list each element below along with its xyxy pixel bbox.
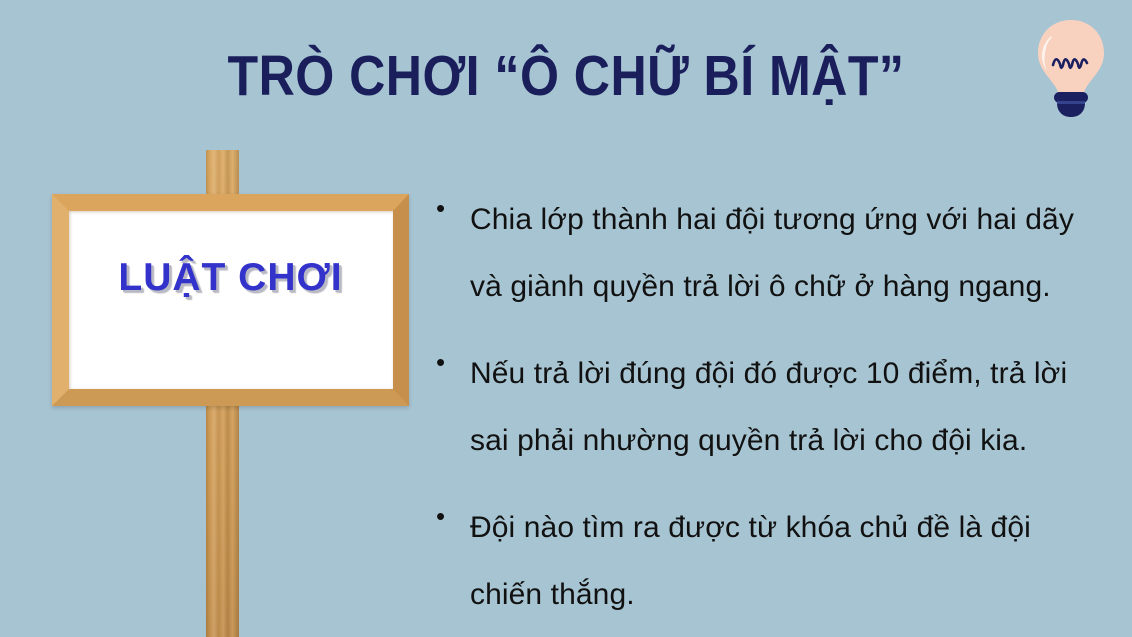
lightbulb-icon [1031,16,1111,120]
sign-label: LUẬT CHƠI [52,256,409,300]
list-item: • Đội nào tìm ra được từ khóa chủ đề là … [432,494,1108,628]
list-item-text: Đội nào tìm ra được từ khóa chủ đề là độ… [470,494,1108,628]
list-item-text: Chia lớp thành hai đội tương ứng với hai… [470,186,1108,320]
list-item: • Chia lớp thành hai đội tương ứng với h… [432,186,1108,320]
list-item: • Nếu trả lời đúng đội đó được 10 điểm, … [432,340,1108,474]
bullet-icon: • [432,340,470,384]
bullet-icon: • [432,494,470,538]
list-item-text: Nếu trả lời đúng đội đó được 10 điểm, tr… [470,340,1108,474]
wooden-sign: LUẬT CHƠI [52,194,409,406]
page-title: TRÒ CHƠI “Ô CHỮ BÍ MẬT” [68,44,1064,108]
sign-board-surface [69,211,393,389]
slide-canvas: TRÒ CHƠI “Ô CHỮ BÍ MẬT” LUẬT CHƠI • Chia… [0,0,1132,637]
bullet-icon: • [432,186,470,230]
rules-list: • Chia lớp thành hai đội tương ứng với h… [432,186,1108,637]
